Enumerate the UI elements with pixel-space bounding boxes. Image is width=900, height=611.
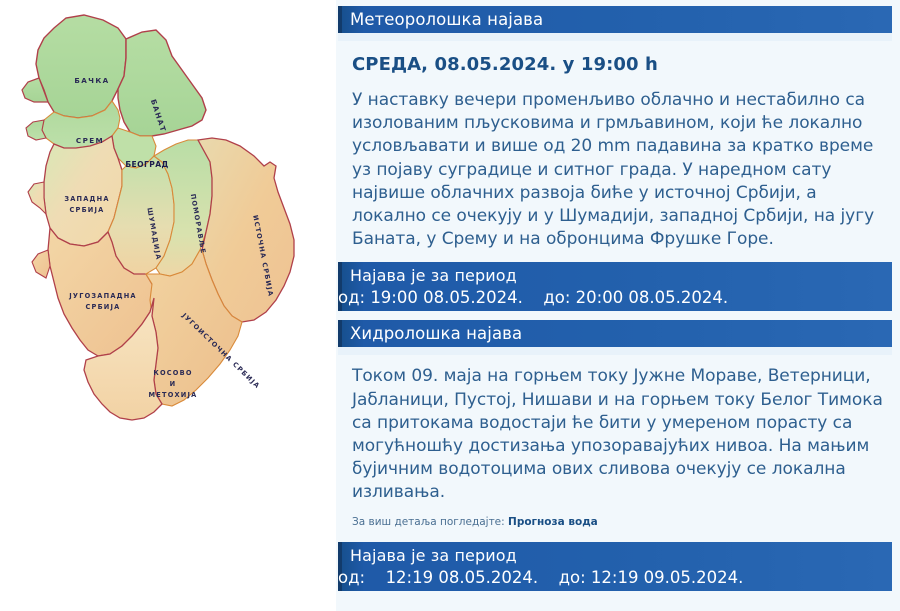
hydro-period-from-label: од: xyxy=(338,568,365,587)
meteo-period-to-label: до: xyxy=(543,288,570,307)
map-label-srem: СРЕМ xyxy=(76,136,104,145)
weather-alert-page: БАЧКА БАНАТ СРЕМ БЕОГРАД ЗАПАДНА СРБИЈА … xyxy=(0,0,900,611)
region-zapadna-west-bulge xyxy=(28,182,46,214)
meteo-header-label: Метеоролошка најава xyxy=(342,6,892,33)
alert-info-inner: Метеоролошка најава СРЕДА, 08.05.2024. у… xyxy=(336,0,900,611)
map-label-jugozapadna-1: ЈУГОЗАПАДНА xyxy=(68,292,136,300)
hydro-period-bar: Најава је за период од: 12:19 08.05.2024… xyxy=(338,542,892,591)
map-label-jugozapadna-2: СРБИЈА xyxy=(86,303,121,311)
serbia-map-panel: БАЧКА БАНАТ СРЕМ БЕОГРАД ЗАПАДНА СРБИЈА … xyxy=(0,0,330,611)
meteo-period-from-value: 19:00 08.05.2024. xyxy=(370,288,523,307)
serbia-map-icon[interactable]: БАЧКА БАНАТ СРЕМ БЕОГРАД ЗАПАДНА СРБИЈА … xyxy=(6,6,328,461)
hydro-period-from-value: 12:19 08.05.2024. xyxy=(386,568,539,587)
map-label-beograd: БЕОГРАД xyxy=(125,160,168,169)
meteo-section-header: Метеоролошка најава xyxy=(338,6,892,33)
meteo-headline: СРЕДА, 08.05.2024. у 19:00 h xyxy=(336,41,900,79)
hydro-footnote: За виш детаља погледајте: Прогноза вода xyxy=(336,513,900,530)
meteo-period-to-value: 20:00 08.05.2024. xyxy=(576,288,729,307)
meteo-header-underband xyxy=(338,33,892,41)
meteo-period-from-label: од: xyxy=(338,288,365,307)
hydro-footnote-prefix: За виш детаља погледајте: xyxy=(352,516,505,528)
hydro-period-to-value: 12:19 09.05.2024. xyxy=(591,568,744,587)
hydro-body-text: Током 09. маја на горњем току Јужне Мора… xyxy=(336,355,900,512)
meteo-body-text: У наставку вечери променљиво облачно и н… xyxy=(336,79,900,259)
meteo-period-range: од: 19:00 08.05.2024. до: 20:00 08.05.20… xyxy=(338,287,892,309)
hydro-period-to-label: до: xyxy=(559,568,586,587)
hydro-header-underband xyxy=(338,347,892,355)
hydro-period-range: од: 12:19 08.05.2024. до: 12:19 09.05.20… xyxy=(338,567,892,589)
hydro-section-header: Хидролошка најава xyxy=(338,320,892,347)
map-label-zapadna-1: ЗАПАДНА xyxy=(64,195,109,203)
map-label-zapadna-2: СРБИЈА xyxy=(70,206,105,214)
map-label-metohija: МЕТОХИЈА xyxy=(149,391,198,399)
region-jugozapadna-west-bulge xyxy=(32,250,50,278)
map-label-backa: БАЧКА xyxy=(74,76,109,85)
hydro-period-title: Најава је за период xyxy=(342,542,892,567)
alert-info-panel: Метеоролошка најава СРЕДА, 08.05.2024. у… xyxy=(330,0,900,611)
map-label-i: И xyxy=(170,380,177,388)
map-label-kosovo: КОСОВО xyxy=(153,369,192,377)
hydro-footnote-link[interactable]: Прогноза вода xyxy=(508,516,598,528)
meteo-period-bar: Најава је за период од: 19:00 08.05.2024… xyxy=(338,262,892,311)
hydro-header-label: Хидролошка најава xyxy=(342,320,892,347)
meteo-period-title: Најава је за период xyxy=(342,262,892,287)
